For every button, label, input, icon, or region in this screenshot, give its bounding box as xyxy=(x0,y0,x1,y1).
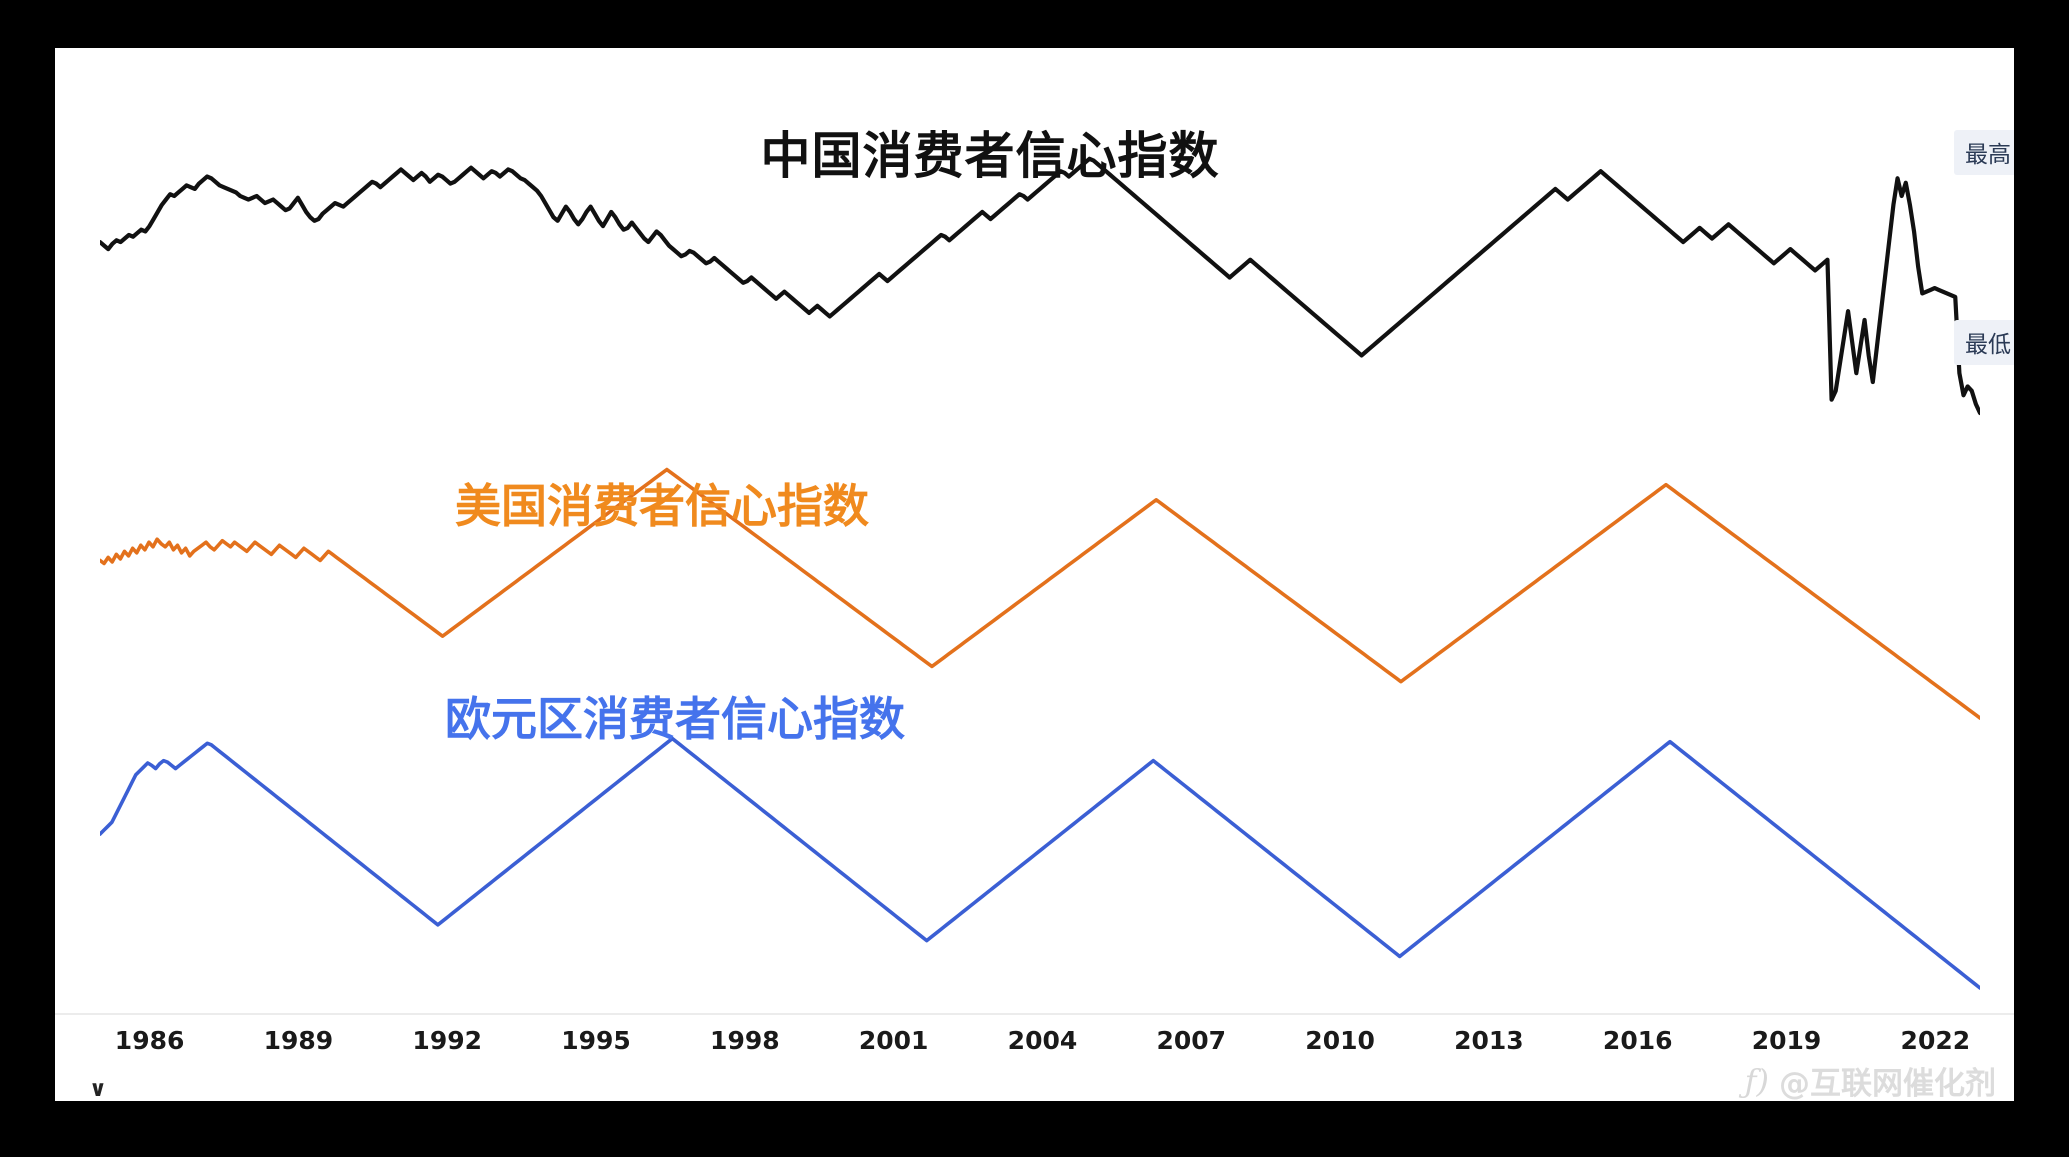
x-axis-tick: 1989 xyxy=(264,1026,334,1055)
badge-highest[interactable]: 最高 xyxy=(1954,130,2014,175)
x-axis-tick: 1986 xyxy=(115,1026,185,1055)
series-line-china xyxy=(100,159,1980,413)
x-axis-tick: 2004 xyxy=(1008,1026,1078,1055)
badge-lowest[interactable]: 最低 xyxy=(1954,320,2014,365)
screenshot-frame: 中国消费者信心指数 美国消费者信心指数 欧元区消费者信心指数 最高 最低 198… xyxy=(0,0,2069,1157)
chart-card: 中国消费者信心指数 美国消费者信心指数 欧元区消费者信心指数 最高 最低 198… xyxy=(55,48,2014,1101)
series-label-eu: 欧元区消费者信心指数 xyxy=(445,683,905,749)
x-axis-tick: 1998 xyxy=(710,1026,780,1055)
chart-plot-area xyxy=(100,138,1980,1018)
x-axis-tick: 2001 xyxy=(859,1026,929,1055)
multi-series-line-chart xyxy=(100,138,1980,1018)
x-axis-tick-labels: 1986198919921995199820012004200720102013… xyxy=(100,1026,1980,1066)
x-axis-tick: 2010 xyxy=(1305,1026,1375,1055)
x-axis-tick: 1992 xyxy=(412,1026,482,1055)
x-axis-tick: 1995 xyxy=(561,1026,631,1055)
chevron-down-icon[interactable]: ∨ xyxy=(89,1076,107,1101)
x-axis-tick: 2007 xyxy=(1156,1026,1226,1055)
x-axis-tick: 2013 xyxy=(1454,1026,1524,1055)
x-axis-tick: 2016 xyxy=(1603,1026,1673,1055)
watermark: ƒ) @互联网催化剂 xyxy=(1745,1058,1996,1101)
x-axis-tick: 2019 xyxy=(1752,1026,1822,1055)
axis-divider xyxy=(55,1013,2014,1015)
series-line-us xyxy=(100,470,1980,718)
watermark-text: @互联网催化剂 xyxy=(1779,1058,1996,1101)
series-line-eu xyxy=(100,739,1980,988)
series-label-us: 美国消费者信心指数 xyxy=(455,470,869,536)
watermark-logo-icon: ƒ) xyxy=(1745,1062,1769,1100)
x-axis-tick: 2022 xyxy=(1901,1026,1971,1055)
